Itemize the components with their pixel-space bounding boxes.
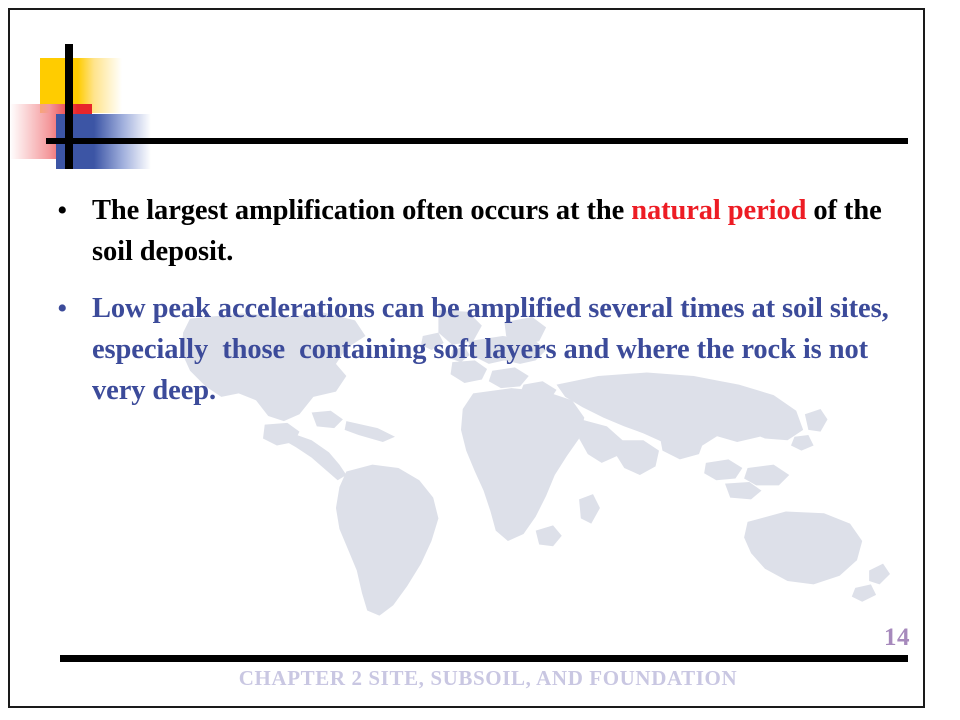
bullet-text-2: Low peak accelerations can be amplified … (92, 288, 918, 411)
header-rule (46, 138, 908, 144)
slide: • The largest amplification often occurs… (0, 0, 960, 720)
bullet-marker-icon: • (48, 288, 92, 329)
bullet-1-segment-1: The largest amplification often occurs a… (92, 195, 631, 226)
bullet-1-highlight: natural period (631, 195, 806, 226)
footer-title: CHAPTER 2 SITE, SUBSOIL, AND FOUNDATION (0, 666, 960, 691)
bullet-item-1: • The largest amplification often occurs… (48, 190, 918, 272)
footer-rule (60, 655, 908, 662)
bullet-marker-icon: • (48, 190, 92, 231)
decorative-logo (10, 44, 150, 169)
bullet-item-2: • Low peak accelerations can be amplifie… (48, 288, 918, 411)
slide-body: • The largest amplification often occurs… (48, 190, 918, 411)
logo-vertical-bar (65, 44, 73, 169)
page-number: 14 (884, 624, 910, 652)
bullet-2-segment-1: Low peak accelerations can be amplified … (92, 293, 889, 406)
bullet-text-1: The largest amplification often occurs a… (92, 190, 918, 272)
